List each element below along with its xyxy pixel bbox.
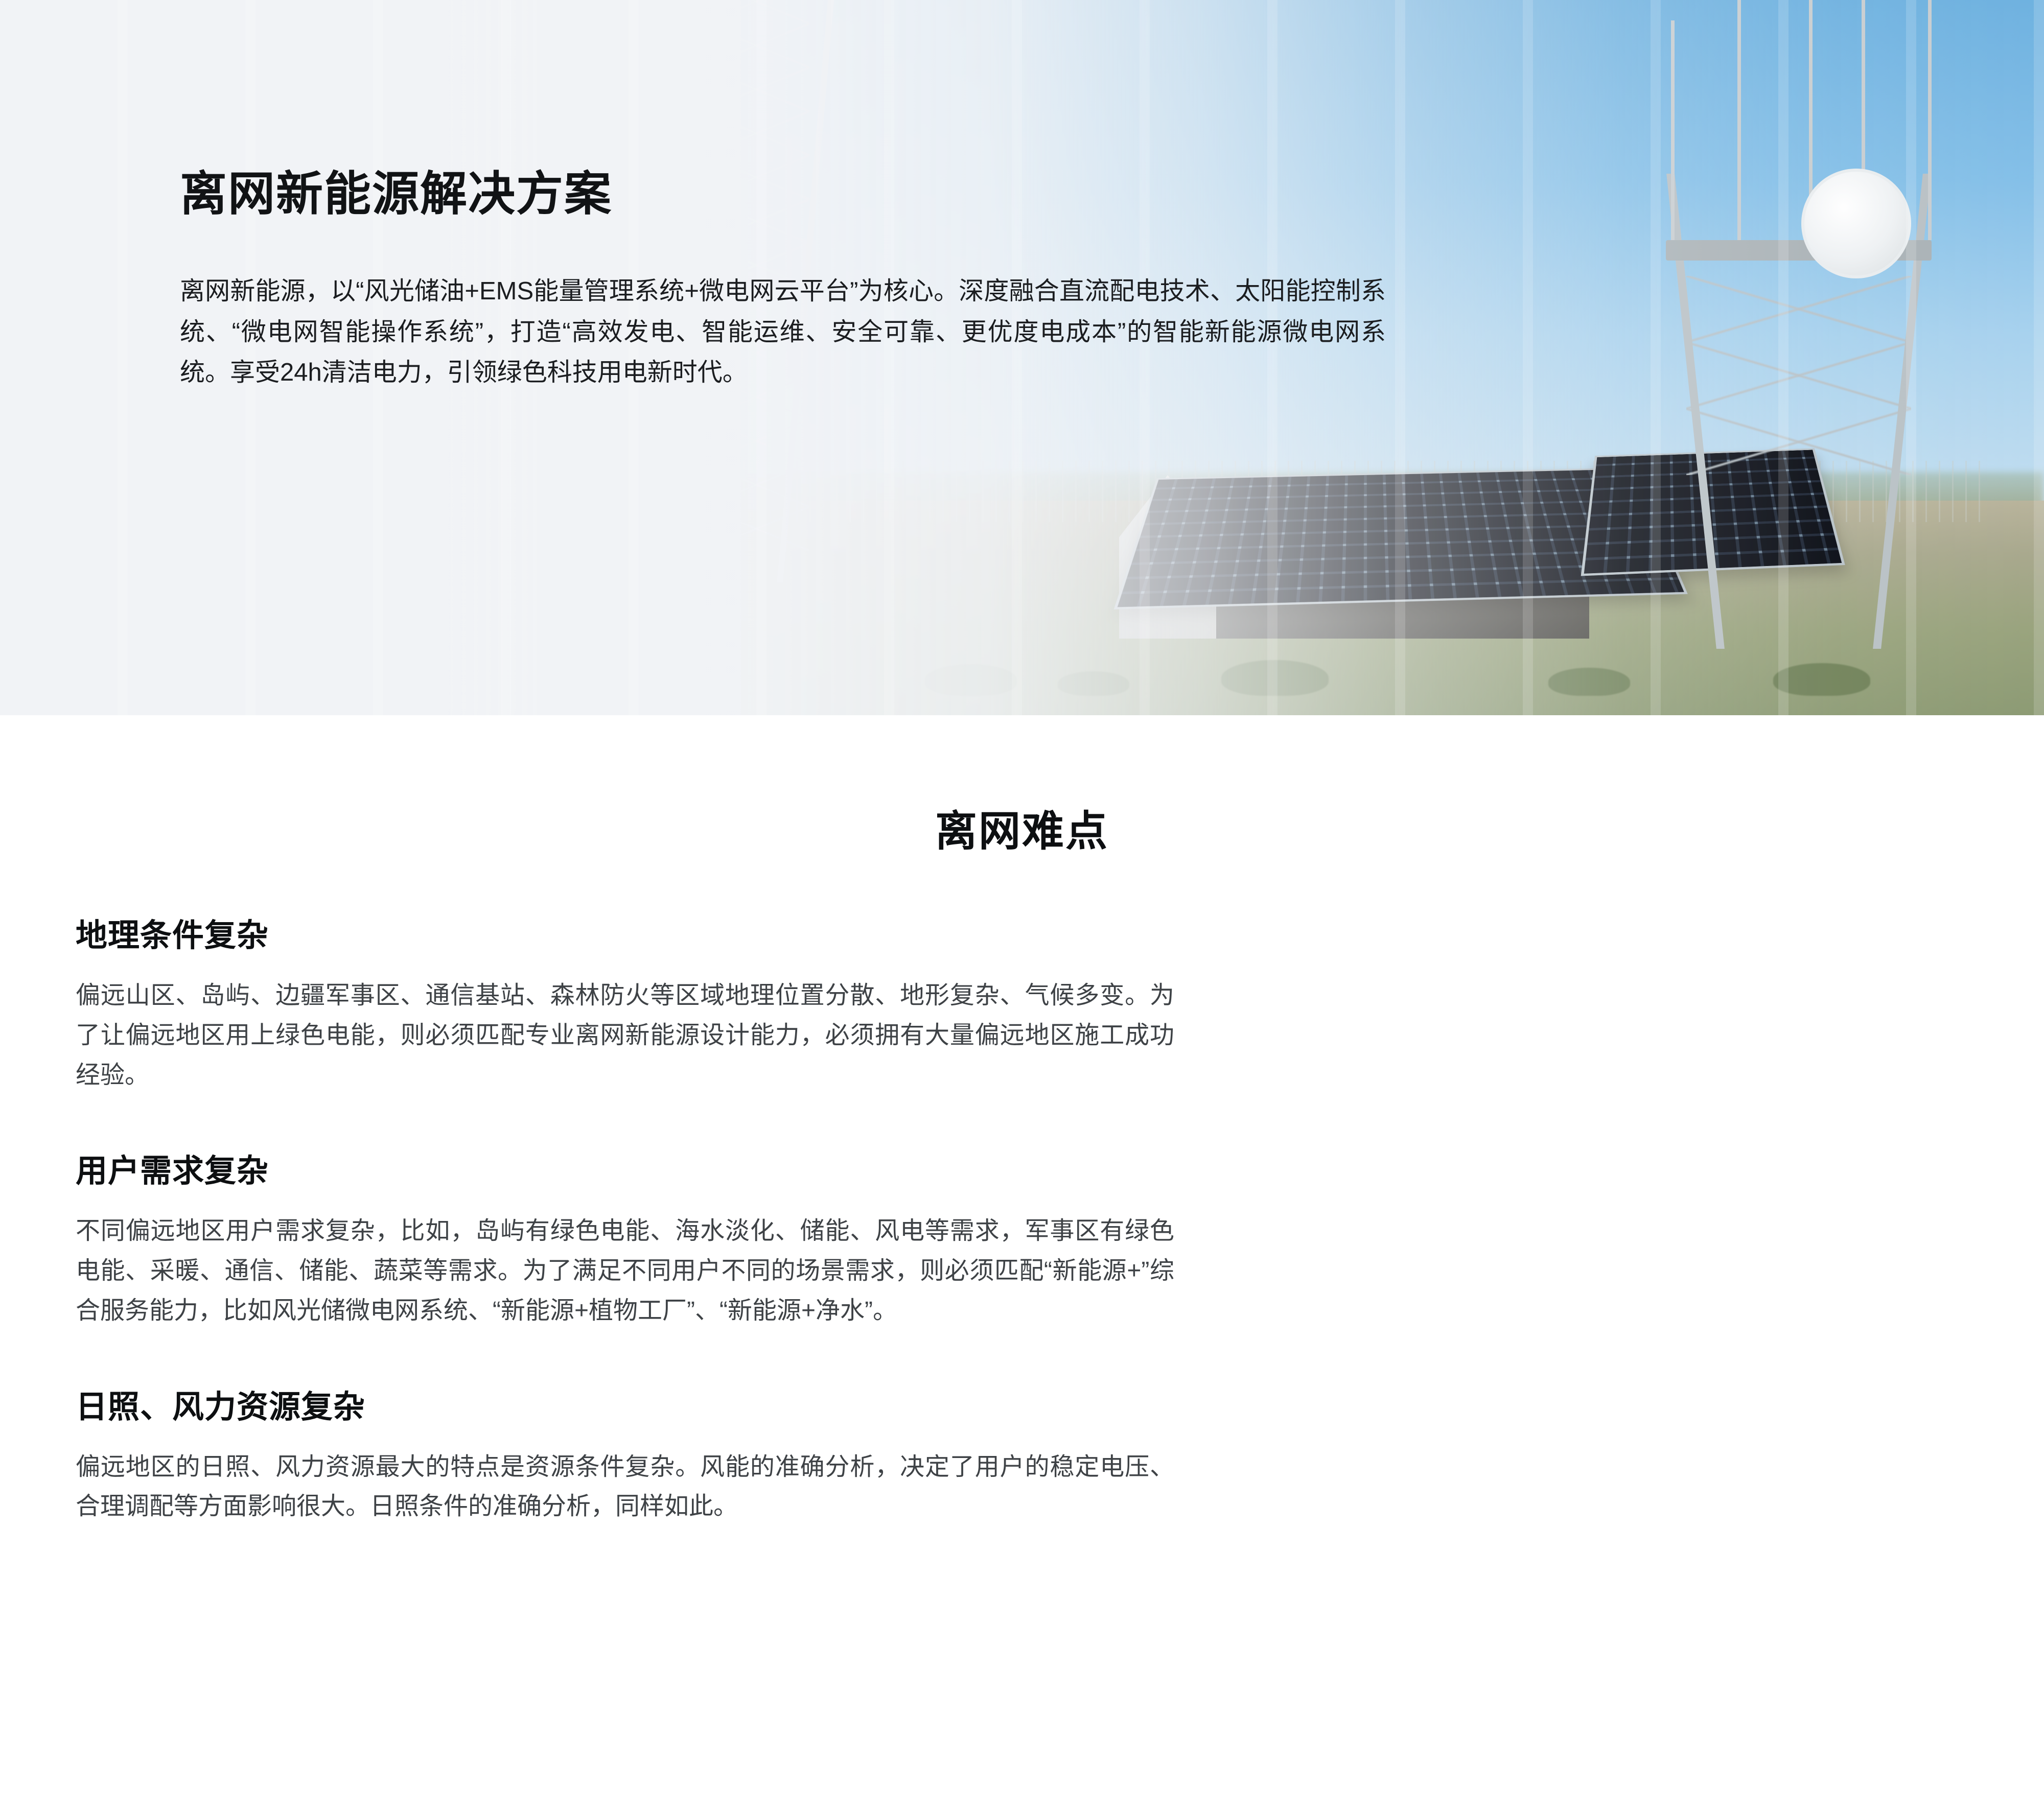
difficulty-body: 偏远地区的日照、风力资源最大的特点是资源条件复杂。风能的准确分析，决定了用户的稳… (76, 1447, 1174, 1527)
section-title: 离网难点 (0, 797, 2044, 858)
difficulty-body: 不同偏远地区用户需求复杂，比如，岛屿有绿色电能、海水淡化、储能、风电等需求，军事… (76, 1211, 1174, 1330)
hero-paragraph: 离网新能源，以“风光储油+EMS能量管理系统+微电网云平台”为核心。深度融合直流… (180, 271, 1386, 393)
difficulty-title: 日照、风力资源复杂 (76, 1381, 1179, 1427)
difficulty-title: 地理条件复杂 (76, 909, 1179, 955)
hero-banner: 离网新能源解决方案 离网新能源，以“风光储油+EMS能量管理系统+微电网云平台”… (0, 0, 2044, 715)
page-title: 离网新能源解决方案 (180, 169, 1416, 220)
hero-copy: 离网新能源解决方案 离网新能源，以“风光储油+EMS能量管理系统+微电网云平台”… (180, 169, 1416, 393)
difficulty-title: 用户需求复杂 (76, 1145, 1179, 1191)
difficulty-item: 日照、风力资源复杂 偏远地区的日照、风力资源最大的特点是资源条件复杂。风能的准确… (76, 1381, 1179, 1527)
difficulty-item: 用户需求复杂 不同偏远地区用户需求复杂，比如，岛屿有绿色电能、海水淡化、储能、风… (76, 1145, 1179, 1330)
slide-page: 离网新能源解决方案 离网新能源，以“风光储油+EMS能量管理系统+微电网云平台”… (0, 0, 2044, 1810)
difficulty-body: 偏远山区、岛屿、边疆军事区、通信基站、森林防火等区域地理位置分散、地形复杂、气候… (76, 976, 1174, 1095)
difficulty-item: 地理条件复杂 偏远山区、岛屿、边疆军事区、通信基站、森林防火等区域地理位置分散、… (76, 909, 1179, 1095)
difficulty-list: 地理条件复杂 偏远山区、岛屿、边疆军事区、通信基站、森林防火等区域地理位置分散、… (76, 909, 1179, 1526)
